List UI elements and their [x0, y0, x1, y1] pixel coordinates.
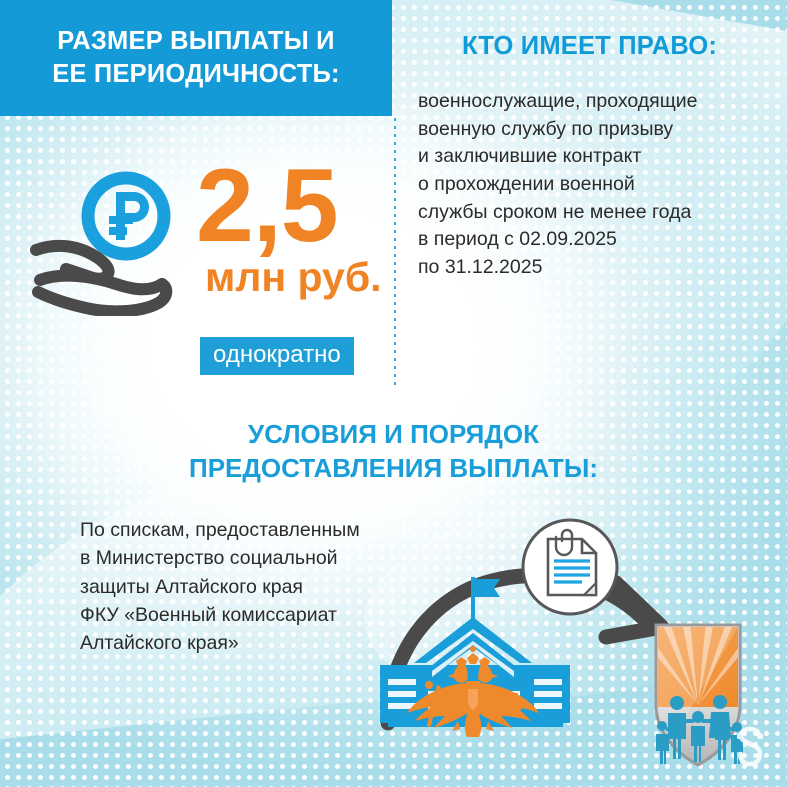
watermark-logo: [733, 723, 767, 769]
document-with-paperclip-icon: [523, 520, 617, 614]
payment-amount-unit: млн руб.: [205, 257, 382, 298]
procedure-heading: УСЛОВИЯ И ПОРЯДОК ПРЕДОСТАВЛЕНИЯ ВЫПЛАТЫ…: [0, 418, 787, 486]
header-eligibility: КТО ИМЕЕТ ПРАВО:: [392, 0, 787, 100]
process-illustration: [370, 505, 787, 787]
payment-frequency-badge: однократно: [200, 337, 354, 375]
header-eligibility-title: КТО ИМЕЕТ ПРАВО:: [462, 31, 717, 63]
header-payment-size: РАЗМЕР ВЫПЛАТЫ И ЕЕ ПЕРИОДИЧНОСТЬ:: [0, 0, 392, 116]
header-payment-size-title: РАЗМЕР ВЫПЛАТЫ И ЕЕ ПЕРИОДИЧНОСТЬ:: [52, 25, 340, 90]
infographic-canvas: РАЗМЕР ВЫПЛАТЫ И ЕЕ ПЕРИОДИЧНОСТЬ: КТО И…: [0, 0, 787, 787]
eligibility-body-text: военнослужащие, проходящие военную служб…: [418, 88, 773, 282]
family-protection-shield: [656, 621, 743, 765]
column-divider: [394, 118, 396, 386]
open-hand-icon: [28, 236, 180, 316]
payment-amount: 2,5: [196, 158, 338, 256]
